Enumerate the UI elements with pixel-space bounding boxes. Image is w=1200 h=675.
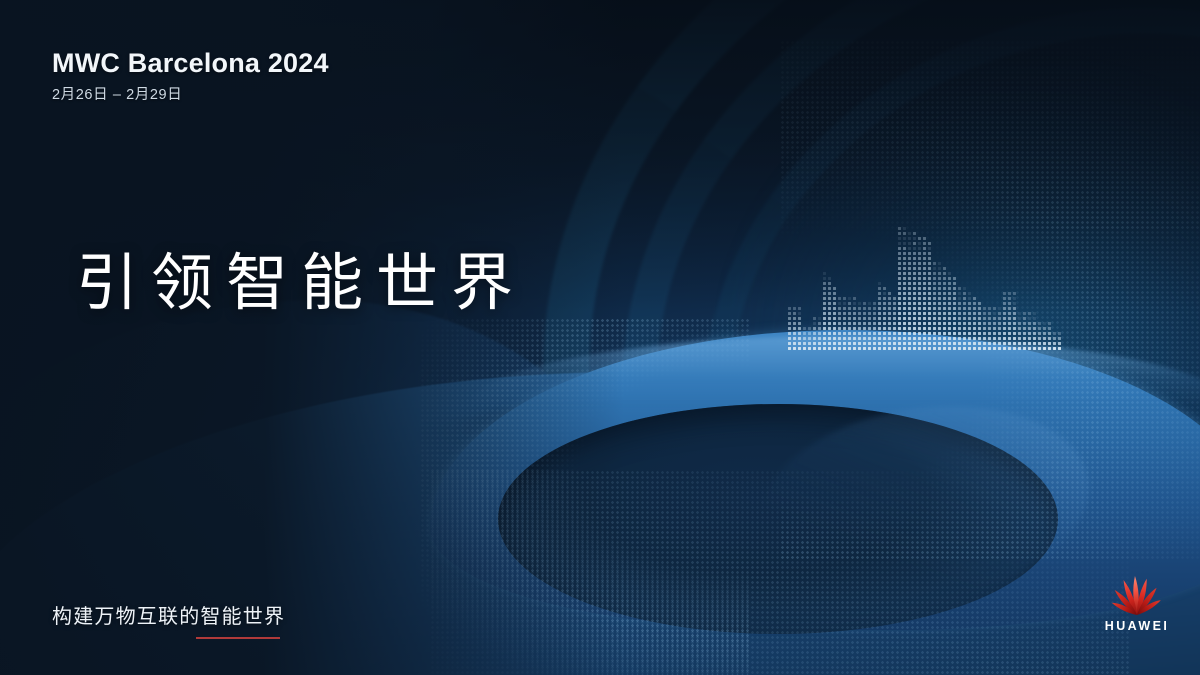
skyline-dot-row (898, 257, 931, 260)
skyline-dot (1003, 292, 1006, 295)
skyline-dot (963, 307, 966, 310)
skyline-dot-row (823, 317, 836, 320)
skyline-dot-row (1018, 337, 1036, 340)
skyline-dot (1008, 292, 1011, 295)
skyline-dot (798, 337, 801, 340)
skyline-dot (913, 252, 916, 255)
skyline-dot (858, 317, 861, 320)
skyline-dot (903, 252, 906, 255)
skyline-dot-row (898, 237, 931, 240)
skyline-dot (898, 287, 901, 290)
skyline-dot (948, 327, 951, 330)
skyline-dot (913, 322, 916, 325)
skyline-dot (1038, 322, 1041, 325)
skyline-dot (968, 322, 971, 325)
skyline-dot (828, 337, 831, 340)
skyline-dot (823, 332, 826, 335)
skyline-dot (918, 327, 921, 330)
skyline-dot-row (933, 297, 956, 300)
skyline-dot-row (933, 287, 956, 290)
skyline-dot (868, 332, 871, 335)
skyline-dot (843, 317, 846, 320)
skyline-dot (923, 337, 926, 340)
skyline-dot (1008, 317, 1011, 320)
skyline-dot (923, 312, 926, 315)
skyline-dot (918, 282, 921, 285)
skyline-dot (973, 327, 976, 330)
skyline-dot (1048, 342, 1051, 345)
skyline-dot (818, 337, 821, 340)
skyline-dot (953, 302, 956, 305)
skyline-dot-row (983, 347, 1001, 350)
skyline-dot (903, 237, 906, 240)
skyline-dot (853, 337, 856, 340)
skyline-dot (988, 317, 991, 320)
skyline-dot (923, 272, 926, 275)
skyline-dot (798, 312, 801, 315)
skyline-dot (958, 287, 961, 290)
skyline-dot (1033, 337, 1036, 340)
skyline-tower (813, 317, 821, 350)
skyline-dot (1023, 332, 1026, 335)
skyline-dot (998, 327, 1001, 330)
skyline-dot (803, 347, 806, 350)
skyline-dot (993, 312, 996, 315)
skyline-dot (913, 302, 916, 305)
skyline-tower (858, 302, 876, 350)
skyline-dot (908, 282, 911, 285)
skyline-dot (923, 277, 926, 280)
skyline-dot (968, 292, 971, 295)
skyline-dot (883, 302, 886, 305)
skyline-dot (918, 247, 921, 250)
skyline-dot (883, 312, 886, 315)
skyline-dot-row (823, 322, 836, 325)
skyline-dot-row (933, 337, 956, 340)
skyline-dot (998, 322, 1001, 325)
skyline-dot (973, 332, 976, 335)
skyline-dot-row (983, 317, 1001, 320)
skyline-dot (868, 322, 871, 325)
skyline-dot (833, 337, 836, 340)
skyline-dot (963, 342, 966, 345)
skyline-dot-row (1003, 297, 1016, 300)
skyline-dot (898, 297, 901, 300)
skyline-dot (833, 317, 836, 320)
skyline-dot (948, 317, 951, 320)
skyline-dot (938, 287, 941, 290)
skyline-dot-row (838, 312, 856, 315)
skyline-dot (958, 322, 961, 325)
skyline-dot (998, 332, 1001, 335)
skyline-dot (868, 337, 871, 340)
skyline-dot-row (1018, 312, 1036, 315)
skyline-dot (873, 337, 876, 340)
skyline-dot (1058, 342, 1061, 345)
skyline-dot (973, 347, 976, 350)
skyline-dot-row (823, 337, 836, 340)
skyline-dot (968, 337, 971, 340)
skyline-dot (873, 342, 876, 345)
skyline-dot (963, 302, 966, 305)
skyline-dot (973, 307, 976, 310)
skyline-dot-row (983, 307, 1001, 310)
skyline-dot (958, 342, 961, 345)
skyline-dot-row (788, 337, 801, 340)
skyline-dot-row (898, 312, 931, 315)
skyline-dot (843, 337, 846, 340)
skyline-dot (903, 322, 906, 325)
skyline-dot (883, 332, 886, 335)
skyline-dot (853, 297, 856, 300)
skyline-dot (913, 292, 916, 295)
skyline-dot (908, 287, 911, 290)
skyline-dot (828, 297, 831, 300)
skyline-dot (963, 292, 966, 295)
skyline-dot (883, 292, 886, 295)
skyline-dot-row (1003, 312, 1016, 315)
skyline-dot-row (1003, 327, 1016, 330)
skyline-dot (928, 282, 931, 285)
skyline-dot (1023, 342, 1026, 345)
skyline-dot (893, 312, 896, 315)
skyline-dot (913, 282, 916, 285)
skyline-dot (908, 267, 911, 270)
skyline-dot (853, 332, 856, 335)
skyline-dot-row (788, 347, 801, 350)
skyline-dot (898, 312, 901, 315)
skyline-dot (913, 312, 916, 315)
skyline-dot (1053, 337, 1056, 340)
skyline-dot (883, 322, 886, 325)
skyline-dot (883, 327, 886, 330)
skyline-dot (928, 332, 931, 335)
skyline-dot (788, 312, 791, 315)
skyline-dot (803, 337, 806, 340)
skyline-dot (818, 342, 821, 345)
skyline-dot (838, 312, 841, 315)
skyline-dot (798, 317, 801, 320)
skyline-dot (798, 322, 801, 325)
skyline-dot (978, 322, 981, 325)
skyline-dot (963, 347, 966, 350)
skyline-dot (1013, 342, 1016, 345)
skyline-dot (1008, 307, 1011, 310)
skyline-dot (888, 317, 891, 320)
skyline-dot (843, 302, 846, 305)
skyline-dot (953, 322, 956, 325)
skyline-dot (898, 327, 901, 330)
skyline-dot (978, 327, 981, 330)
skyline-dot (968, 312, 971, 315)
skyline-dot (898, 227, 901, 230)
skyline-dot (818, 317, 821, 320)
skyline-dot (883, 342, 886, 345)
skyline-dot-row (933, 262, 956, 265)
skyline-dot-row (1053, 342, 1061, 345)
skyline-dot (808, 327, 811, 330)
skyline-dot (978, 312, 981, 315)
skyline-dot (908, 312, 911, 315)
skyline-dot (1013, 292, 1016, 295)
skyline-dot (993, 327, 996, 330)
skyline-dot (848, 312, 851, 315)
skyline-dot (988, 327, 991, 330)
skyline-dot (998, 337, 1001, 340)
skyline-dot (868, 317, 871, 320)
skyline-dot (893, 322, 896, 325)
skyline-dot-row (858, 312, 876, 315)
skyline-dot (913, 262, 916, 265)
skyline-dot-row (1003, 322, 1016, 325)
skyline-dot (878, 312, 881, 315)
skyline-dot (913, 272, 916, 275)
skyline-dot (1033, 327, 1036, 330)
skyline-dot (928, 242, 931, 245)
skyline-dot (833, 292, 836, 295)
skyline-dot (823, 272, 826, 275)
skyline-dot (1053, 332, 1056, 335)
skyline-dot (828, 287, 831, 290)
skyline-dot (908, 322, 911, 325)
skyline-dot (843, 297, 846, 300)
skyline-dot (928, 322, 931, 325)
skyline-dot-row (898, 232, 931, 235)
skyline-dot (978, 347, 981, 350)
skyline-dot (858, 342, 861, 345)
skyline-dot-row (898, 267, 931, 270)
skyline-dot (878, 342, 881, 345)
skyline-dot (928, 262, 931, 265)
skyline-dot-row (803, 332, 811, 335)
skyline-dot (898, 277, 901, 280)
skyline-dot (898, 282, 901, 285)
skyline-dot (963, 297, 966, 300)
skyline-dot-row (838, 317, 856, 320)
skyline-dot (848, 327, 851, 330)
skyline-dot (838, 327, 841, 330)
skyline-dot (938, 312, 941, 315)
skyline-dot-row (1003, 292, 1016, 295)
skyline-dot (793, 332, 796, 335)
skyline-dot (828, 277, 831, 280)
skyline-dot (1048, 332, 1051, 335)
skyline-dot-row (1038, 337, 1051, 340)
skyline-dot (983, 327, 986, 330)
skyline-dot (1018, 337, 1021, 340)
skyline-dot (853, 317, 856, 320)
skyline-dot (1018, 342, 1021, 345)
skyline-dot (968, 332, 971, 335)
skyline-dot (888, 292, 891, 295)
skyline-dot (958, 332, 961, 335)
skyline-dot (903, 337, 906, 340)
skyline-dot (953, 307, 956, 310)
skyline-tower (1003, 292, 1016, 350)
skyline-dot (908, 237, 911, 240)
skyline-dot (1013, 327, 1016, 330)
skyline-tower (1038, 322, 1051, 350)
skyline-dot (908, 337, 911, 340)
skyline-dot (928, 247, 931, 250)
skyline-dot (888, 327, 891, 330)
skyline-dot (868, 327, 871, 330)
skyline-dot-row (813, 322, 821, 325)
skyline-dot (798, 342, 801, 345)
skyline-dot (938, 302, 941, 305)
skyline-dot (793, 327, 796, 330)
skyline-dot (1043, 347, 1046, 350)
skyline-dot (818, 322, 821, 325)
skyline-dot (1003, 322, 1006, 325)
skyline-dot (993, 322, 996, 325)
skyline-dot (1008, 297, 1011, 300)
skyline-dot (928, 307, 931, 310)
skyline-dot-row (838, 337, 856, 340)
skyline-dot (933, 317, 936, 320)
skyline-dot (823, 287, 826, 290)
skyline-dot-row (858, 317, 876, 320)
skyline-dot-row (1018, 347, 1036, 350)
skyline-dot-row (788, 307, 801, 310)
skyline-dot-row (878, 347, 896, 350)
brand-tagline: 构建万物互联的智能世界 (52, 605, 285, 629)
skyline-dot (1013, 322, 1016, 325)
skyline-dot (968, 342, 971, 345)
skyline-dot (863, 337, 866, 340)
skyline-dot (933, 327, 936, 330)
skyline-dot (918, 237, 921, 240)
skyline-dot (813, 342, 816, 345)
skyline-dot (823, 342, 826, 345)
skyline-dot (973, 342, 976, 345)
skyline-dot (883, 297, 886, 300)
skyline-dot (858, 337, 861, 340)
skyline-dot-row (898, 347, 931, 350)
skyline-dot (853, 327, 856, 330)
skyline-dot (1003, 297, 1006, 300)
skyline-tower (898, 227, 931, 350)
skyline-dot-row (933, 277, 956, 280)
skyline-dot (908, 232, 911, 235)
skyline-dot (893, 347, 896, 350)
skyline-dot (913, 237, 916, 240)
skyline-dot (893, 332, 896, 335)
skyline-dot-row (823, 312, 836, 315)
skyline-dot (823, 317, 826, 320)
skyline-dot-row (813, 332, 821, 335)
skyline-dot (1003, 312, 1006, 315)
skyline-dot (938, 307, 941, 310)
skyline-dot (938, 292, 941, 295)
tagline-block: 构建万物互联的智能世界 (52, 605, 285, 629)
skyline-dot-row (788, 327, 801, 330)
skyline-dot (908, 277, 911, 280)
skyline-dot-row (958, 312, 981, 315)
skyline-dot (853, 342, 856, 345)
skyline-dot (828, 327, 831, 330)
skyline-dot-row (813, 327, 821, 330)
skyline-dot (873, 332, 876, 335)
skyline-dot (793, 342, 796, 345)
skyline-dot (848, 347, 851, 350)
skyline-dot (958, 297, 961, 300)
skyline-dot-row (933, 282, 956, 285)
skyline-dot (1028, 312, 1031, 315)
skyline-dot (938, 337, 941, 340)
skyline-dot (948, 287, 951, 290)
skyline-dot (838, 342, 841, 345)
skyline-dot-row (858, 307, 876, 310)
skyline-dot (898, 337, 901, 340)
skyline-dot (1018, 312, 1021, 315)
skyline-dot-row (788, 322, 801, 325)
skyline-dot (823, 307, 826, 310)
skyline-dot (968, 347, 971, 350)
skyline-dot (958, 317, 961, 320)
skyline-dot (843, 307, 846, 310)
skyline-dot (933, 337, 936, 340)
skyline-dot (873, 327, 876, 330)
skyline-dot (923, 307, 926, 310)
skyline-dot-row (788, 312, 801, 315)
skyline-dot (988, 332, 991, 335)
skyline-dot-row (788, 317, 801, 320)
skyline-dot (943, 267, 946, 270)
skyline-dot (1038, 342, 1041, 345)
skyline-dot (978, 342, 981, 345)
skyline-dot (878, 287, 881, 290)
skyline-dot (898, 272, 901, 275)
skyline-dot-row (933, 267, 956, 270)
skyline-dot (928, 277, 931, 280)
skyline-dot (993, 332, 996, 335)
skyline-dot (908, 252, 911, 255)
skyline-dot (983, 312, 986, 315)
skyline-tower (983, 307, 1001, 350)
skyline-dot (1003, 307, 1006, 310)
skyline-dot (928, 312, 931, 315)
skyline-dot-row (858, 302, 876, 305)
skyline-dot (803, 327, 806, 330)
skyline-dot-row (958, 297, 981, 300)
skyline-dot (888, 312, 891, 315)
skyline-dot (813, 317, 816, 320)
skyline-dot (993, 337, 996, 340)
skyline-dot (873, 302, 876, 305)
skyline-dot (873, 317, 876, 320)
skyline-dot (943, 327, 946, 330)
skyline-dot (893, 307, 896, 310)
skyline-dot (813, 332, 816, 335)
skyline-dot (963, 332, 966, 335)
skyline-dot (788, 322, 791, 325)
skyline-dot-row (1038, 322, 1051, 325)
skyline-dot-row (1038, 342, 1051, 345)
skyline-dot (848, 317, 851, 320)
skyline-dot (913, 327, 916, 330)
skyline-dot (923, 282, 926, 285)
skyline-dot (973, 317, 976, 320)
skyline-dot (943, 322, 946, 325)
skyline-dot-row (823, 342, 836, 345)
skyline-dot (903, 302, 906, 305)
skyline-dot (958, 292, 961, 295)
skyline-dot-row (898, 317, 931, 320)
skyline-dot (953, 312, 956, 315)
skyline-dot (1033, 347, 1036, 350)
skyline-dot (923, 322, 926, 325)
